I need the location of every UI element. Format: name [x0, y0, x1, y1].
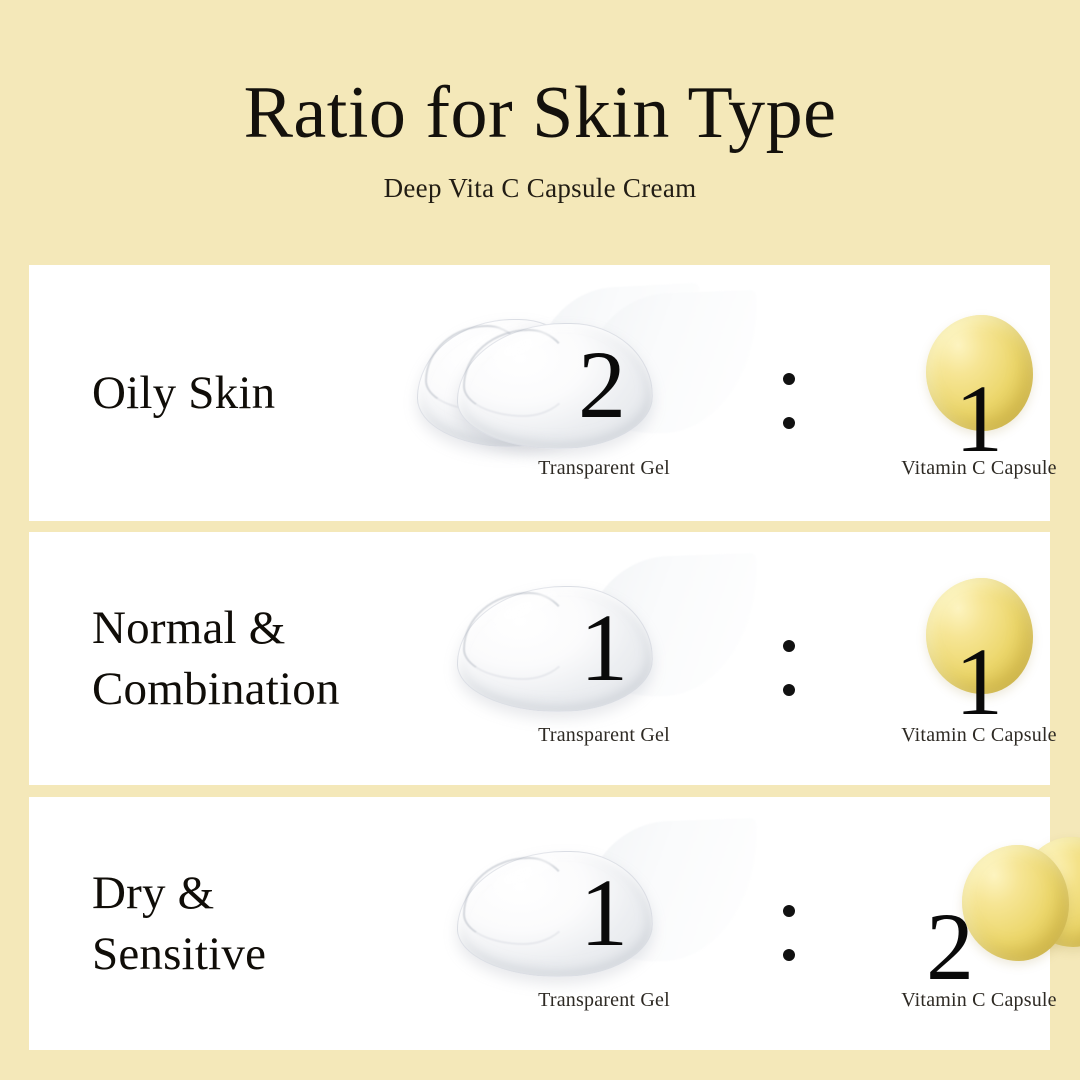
gel-caption: Transparent Gel	[439, 989, 769, 1012]
header: Ratio for Skin Type Deep Vita C Capsule …	[0, 0, 1080, 204]
capsule-column: 2 Vitamin C Capsule	[814, 797, 1080, 1050]
capsule-column: 1 Vitamin C Capsule	[814, 532, 1080, 785]
colon-dot-icon	[783, 949, 795, 961]
ratio-area: 1 Transparent Gel 1 Vitamin C Capsule	[429, 532, 1050, 785]
skin-type-cell: Dry & Sensitive	[29, 797, 429, 1050]
transparent-gel-icon: 1	[439, 550, 769, 725]
transparent-gel-icon: 2	[439, 287, 769, 462]
ratio-area: 1 Transparent Gel 2 Vitamin C Capsule	[429, 797, 1050, 1050]
page-subtitle: Deep Vita C Capsule Cream	[0, 173, 1080, 204]
skin-type-cell: Normal & Combination	[29, 532, 429, 785]
skin-type-label: Normal & Combination	[92, 598, 340, 718]
skin-type-cell: Oily Skin	[29, 265, 429, 521]
gel-amount: 1	[439, 865, 769, 961]
capsule-amount: 1	[814, 634, 1080, 730]
ratio-row-oily-skin: Oily Skin 2 Transparent Gel	[29, 265, 1050, 521]
ratio-card-list: Oily Skin 2 Transparent Gel	[29, 265, 1050, 1050]
gel-column: 1 Transparent Gel	[439, 797, 769, 1050]
gel-caption: Transparent Gel	[439, 724, 769, 747]
skin-type-label: Oily Skin	[92, 363, 275, 423]
colon-dot-icon	[783, 684, 795, 696]
vitamin-c-capsule-icon: 1	[814, 303, 1080, 448]
vitamin-c-capsule-icon: 1	[814, 566, 1080, 711]
page-title: Ratio for Skin Type	[0, 76, 1080, 151]
colon-dot-icon	[783, 640, 795, 652]
skin-type-label: Dry & Sensitive	[92, 863, 266, 983]
transparent-gel-icon: 1	[439, 815, 769, 990]
capsule-column: 1 Vitamin C Capsule	[814, 265, 1080, 521]
gel-amount: 1	[439, 600, 769, 696]
gel-column: 1 Transparent Gel	[439, 532, 769, 785]
ratio-row-normal-combination: Normal & Combination 1 Transparent Gel	[29, 532, 1050, 785]
capsule-amount: 2	[814, 899, 1080, 995]
gel-amount: 2	[439, 337, 769, 433]
vitamin-c-capsule-icon: 2	[814, 831, 1080, 976]
ratio-area: 2 Transparent Gel 1 Vitamin C Capsule	[429, 265, 1050, 521]
gel-column: 2 Transparent Gel	[439, 265, 769, 521]
colon-dot-icon	[783, 373, 795, 385]
gel-caption: Transparent Gel	[439, 457, 769, 480]
ratio-row-dry-sensitive: Dry & Sensitive 1 Transparent Gel	[29, 797, 1050, 1050]
capsule-amount: 1	[814, 371, 1080, 467]
colon-dot-icon	[783, 417, 795, 429]
colon-dot-icon	[783, 905, 795, 917]
